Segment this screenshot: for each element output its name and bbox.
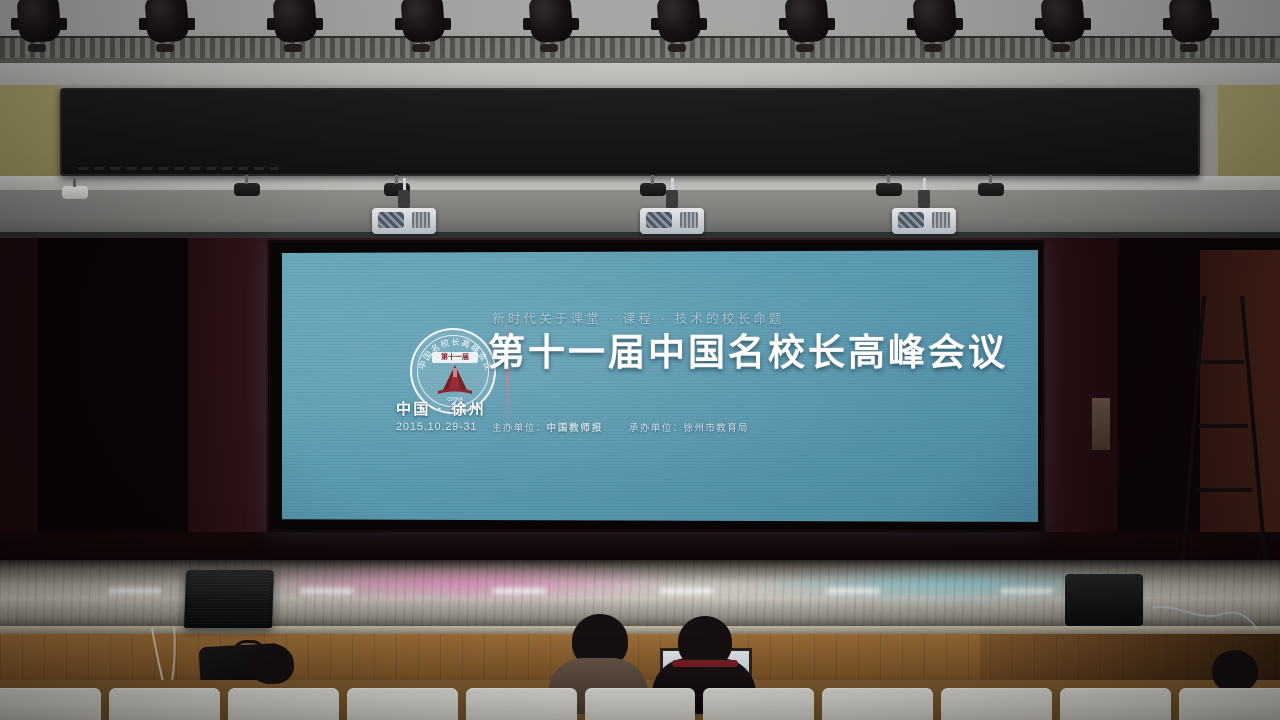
projector-mount [666, 190, 678, 208]
stage-spotlight [906, 0, 964, 48]
audience-seat[interactable] [228, 688, 339, 720]
wall-panel-far-left [0, 238, 40, 568]
host-name: 中国教师报 [547, 423, 604, 434]
person-collar [672, 660, 738, 667]
spotlight-lens [796, 44, 814, 52]
stage-spotlight [138, 0, 196, 48]
audience-seat[interactable] [941, 688, 1052, 720]
person-head [250, 644, 294, 684]
auditorium-scene: 中国名校长高峰会议 第十一届 CHINA 新时代关于课堂 · 课程 · 技术的校… [0, 0, 1280, 720]
spotlight-lens [1180, 44, 1198, 52]
screen-city: 中国 · 徐州 [396, 398, 516, 419]
stage-spotlight [1034, 0, 1092, 48]
host-group: 主办单位：中国教师报 [492, 423, 603, 434]
stage-cables-right [1150, 600, 1260, 634]
wall-pillar-left [188, 238, 266, 568]
ladder-rail-left [1179, 296, 1206, 589]
emblem-banner: 第十一届 [432, 352, 478, 363]
organizer-label: 承办单位： [629, 423, 684, 434]
screen-subtitle: 新时代关于课堂 · 课程 · 技术的校长命题 [492, 308, 1028, 327]
screen-main-title: 第十一届中国名校长高峰会议 [488, 332, 1028, 373]
projector-vent [412, 212, 430, 228]
audience-seat[interactable] [1060, 688, 1171, 720]
ceiling-spot-fixture-5 [876, 183, 902, 196]
audience-seat[interactable] [703, 688, 814, 720]
audience-seat-row [0, 688, 1280, 720]
ceiling-spot-fixture-4 [640, 183, 666, 196]
audience-seat[interactable] [109, 688, 220, 720]
step-ladder [1178, 296, 1262, 590]
stage-spotlight [1162, 0, 1220, 48]
ceiling-mounted-projector [640, 200, 704, 234]
stage-spotlight [266, 0, 324, 48]
ceiling-mounted-projector [372, 200, 436, 234]
projector-vent [680, 212, 698, 228]
spotlight-body [912, 0, 957, 43]
audience-seat[interactable] [466, 688, 577, 720]
ceiling-lower-band [0, 63, 1280, 85]
spotlight-lens [668, 44, 686, 52]
led-screen[interactable]: 中国名校长高峰会议 第十一届 CHINA 新时代关于课堂 · 课程 · 技术的校… [282, 250, 1038, 522]
ceiling-spot-fixture-2 [234, 183, 260, 196]
audience-seat[interactable] [347, 688, 458, 720]
audience-seat[interactable] [585, 688, 696, 720]
stage-monitor-speaker [184, 570, 274, 628]
screen-text-block: 新时代关于课堂 · 课程 · 技术的校长命题 第十一届中国名校长高峰会议 [488, 308, 1028, 373]
spotlight-lens [924, 44, 942, 52]
ceiling-spot-fixture-left [62, 186, 88, 199]
spotlight-lens [156, 44, 174, 52]
emblem-mountain-icon [434, 364, 476, 396]
spotlight-body [784, 0, 829, 43]
ladder-rung [1198, 424, 1248, 428]
projector-mount [918, 190, 930, 208]
wall-panel-left [38, 238, 188, 568]
ceiling-spot-fixture-6 [978, 183, 1004, 196]
spotlight-body [272, 0, 317, 43]
ceiling-mounted-projector [892, 200, 956, 234]
spotlight-body [656, 0, 701, 43]
spotlight-lens [1052, 44, 1070, 52]
ladder-rung [1200, 360, 1244, 364]
audience-seat[interactable] [822, 688, 933, 720]
spotlight-lens [412, 44, 430, 52]
stage-spotlight [650, 0, 708, 48]
spotlight-body [144, 0, 189, 43]
projector-lens [378, 212, 404, 228]
speaker-grille [188, 574, 270, 624]
organizer-group: 承办单位：徐州市教育局 [629, 423, 749, 434]
acoustic-valance-panel [60, 88, 1200, 176]
organizer-name: 徐州市教育局 [684, 423, 749, 434]
spotlight-body [400, 0, 445, 43]
stage-spotlight [778, 0, 836, 48]
stage-spotlight [394, 0, 452, 48]
wall-light-box [1092, 398, 1110, 450]
spotlight-lens [284, 44, 302, 52]
olive-wall-right [1218, 85, 1280, 183]
stage-spotlight [10, 0, 68, 48]
audience-seat[interactable] [0, 688, 101, 720]
olive-wall-left [0, 85, 60, 183]
person-head [1212, 650, 1258, 692]
valance-vent-slits [78, 167, 278, 170]
projector-mount [398, 190, 410, 208]
stage-monitor-speaker-right [1065, 574, 1143, 626]
projector-lens [898, 212, 924, 228]
projector-vent [932, 212, 950, 228]
audience-seat[interactable] [1179, 688, 1280, 720]
spotlight-body [1040, 0, 1085, 43]
screen-organizer-line: 主办单位：中国教师报承办单位：徐州市教育局 [492, 420, 749, 434]
spotlight-body [528, 0, 573, 43]
spotlight-body [1168, 0, 1213, 43]
spotlight-body [16, 0, 61, 43]
host-label: 主办单位： [492, 423, 547, 434]
projector-lens [646, 212, 672, 228]
stage-spotlight [522, 0, 580, 48]
spotlight-lens [28, 44, 46, 52]
spotlight-lens [540, 44, 558, 52]
ladder-rung [1196, 488, 1252, 492]
